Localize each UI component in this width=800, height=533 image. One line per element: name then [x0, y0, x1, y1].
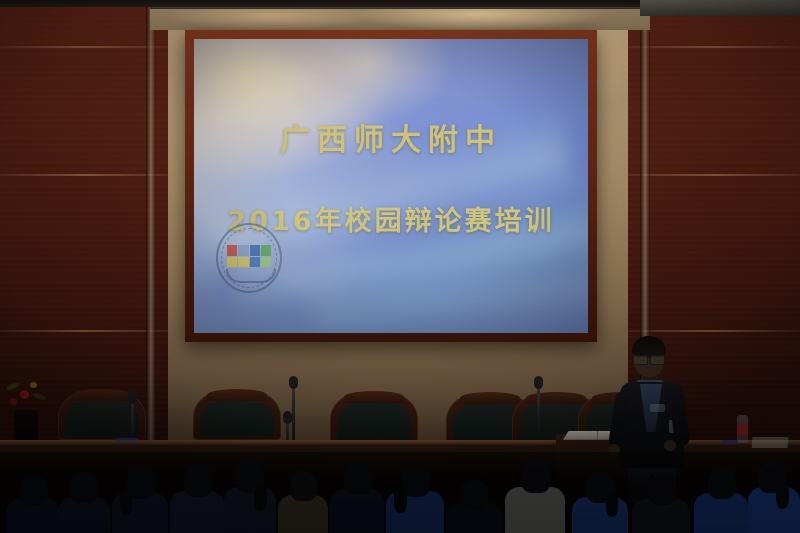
microphone	[537, 385, 540, 443]
audience-body	[170, 491, 224, 533]
presenter-hair	[632, 336, 666, 357]
microphone-head	[289, 376, 298, 389]
book-spine	[597, 431, 598, 440]
ponytail	[120, 489, 132, 515]
audience-member	[446, 481, 502, 533]
wood-seam	[0, 46, 168, 48]
projection-screen: 广西师大附中 2016年校园辩论赛培训	[194, 39, 588, 333]
chair-pad	[65, 401, 139, 437]
ceiling-light-band	[150, 8, 650, 30]
audience-member	[572, 471, 628, 533]
audience-head	[521, 459, 551, 493]
chair-pad	[337, 403, 411, 439]
audience-head	[20, 475, 48, 505]
audience-member	[386, 463, 444, 533]
jacket-chest-badge	[650, 404, 665, 412]
audience-member	[170, 461, 224, 533]
microphone-head	[534, 376, 543, 389]
ponytail	[254, 483, 267, 511]
chair-crest	[526, 392, 586, 404]
chair-pad	[200, 401, 274, 437]
audience-member	[694, 465, 748, 533]
chair-crest	[72, 389, 132, 401]
wood-seam	[628, 174, 800, 176]
audience-body	[505, 487, 565, 533]
water-bottle	[737, 415, 748, 443]
wood-seam	[628, 330, 800, 332]
audience-member	[748, 457, 800, 533]
papers	[752, 437, 789, 448]
ponytail	[776, 481, 789, 509]
chair-crest	[460, 392, 520, 404]
microphone-head	[283, 411, 292, 424]
audience-body	[224, 487, 276, 533]
audience-head	[184, 464, 212, 497]
glasses-lens	[633, 355, 648, 365]
audience-member	[278, 467, 328, 533]
audience-member	[632, 477, 690, 533]
audience-member	[6, 477, 60, 533]
ponytail	[606, 491, 618, 517]
flower-leaf	[6, 382, 21, 392]
microphone	[292, 385, 295, 445]
glasses-lens	[650, 355, 665, 365]
wood-seam	[0, 174, 168, 176]
audience-head	[344, 463, 372, 495]
audience-member	[330, 459, 384, 533]
audience-head	[70, 472, 98, 503]
chair-crest	[207, 389, 267, 401]
audience-member	[112, 465, 168, 533]
audience-body	[694, 493, 748, 533]
flower-petal	[30, 382, 37, 388]
pen	[722, 440, 738, 443]
audience-head	[708, 468, 736, 499]
auditorium-photo: 广西师大附中 2016年校园辩论赛培训	[0, 0, 800, 533]
audience-member	[224, 457, 276, 533]
screen-vignette	[194, 39, 588, 333]
audience-head	[460, 479, 488, 509]
bottle-label	[737, 424, 748, 435]
projection-screen-frame: 广西师大附中 2016年校园辩论赛培训	[185, 30, 597, 342]
audience-head	[290, 471, 317, 501]
ponytail	[394, 485, 407, 513]
audience	[0, 452, 800, 533]
pen	[116, 438, 138, 441]
audience-member	[58, 471, 110, 533]
microphone-head	[128, 391, 137, 404]
wood-seam	[0, 330, 168, 332]
ceiling-panel-right	[640, 0, 800, 16]
audience-body	[748, 487, 800, 533]
audience-body	[330, 489, 384, 533]
eyeglasses-icon	[633, 355, 665, 363]
audience-member	[505, 455, 565, 533]
audience-head	[648, 475, 676, 505]
wood-seam	[628, 46, 800, 48]
presenter-right-hand	[664, 440, 676, 451]
chair-crest	[344, 391, 404, 403]
